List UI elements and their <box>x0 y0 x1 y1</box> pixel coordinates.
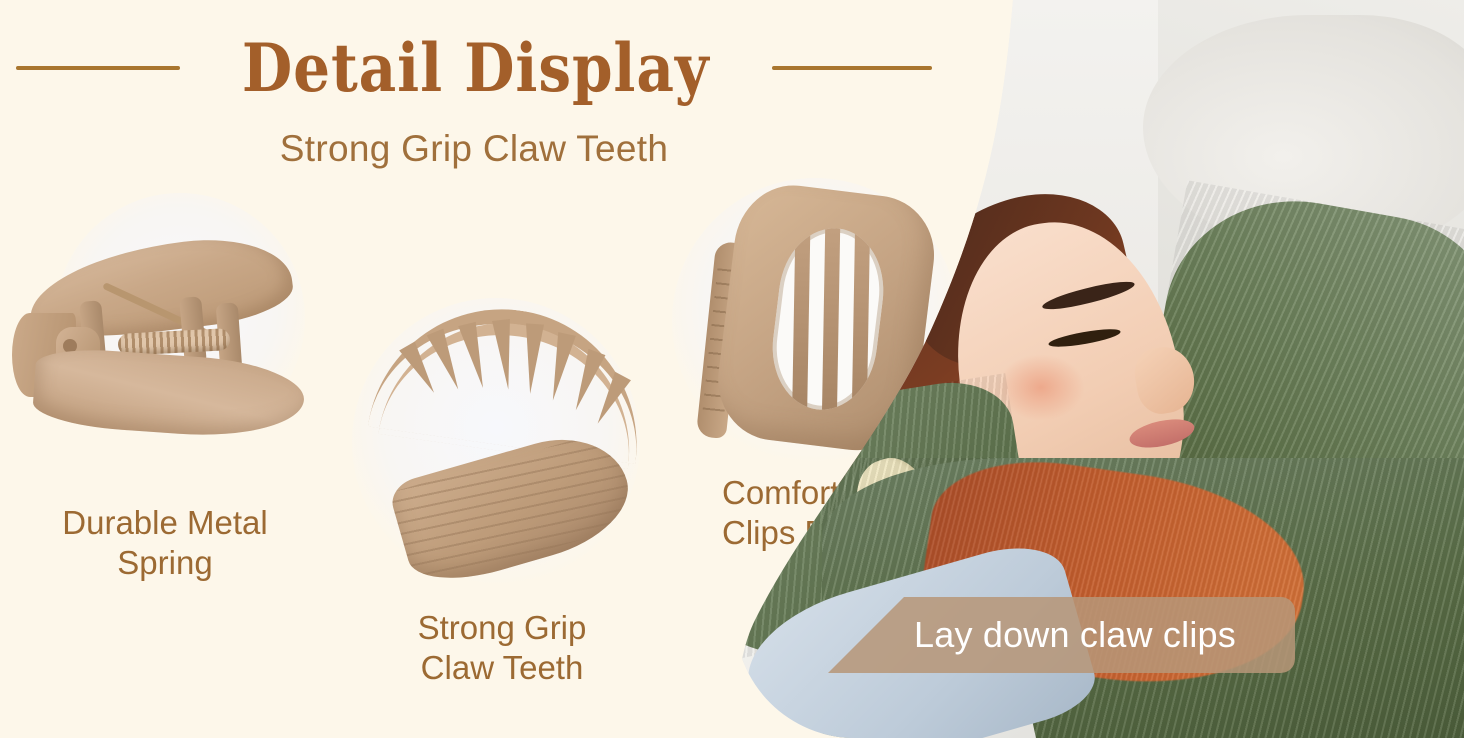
product-image-durable-metal-spring <box>10 235 310 455</box>
page-header: Detail Display <box>0 20 948 115</box>
clip-slot-bar <box>822 222 841 415</box>
detail-display-banner: Detail Display Strong Grip Claw Teeth Du… <box>0 0 1464 738</box>
lifestyle-banner-label: Lay down claw clips <box>914 614 1236 656</box>
page-title: Detail Display <box>242 35 710 101</box>
clip-lower-jaw <box>32 346 307 443</box>
title-rule-right <box>772 66 932 70</box>
feature-caption-2: Strong Grip Claw Teeth <box>352 608 652 689</box>
product-image-strong-grip-claw-teeth <box>368 300 658 580</box>
photo-lamp-pole <box>954 0 967 192</box>
page-subtitle: Strong Grip Claw Teeth <box>0 128 948 170</box>
clip-slot-bar <box>792 222 811 415</box>
title-rule-left <box>16 66 180 70</box>
feature-caption-1: Durable Metal Spring <box>0 503 330 584</box>
